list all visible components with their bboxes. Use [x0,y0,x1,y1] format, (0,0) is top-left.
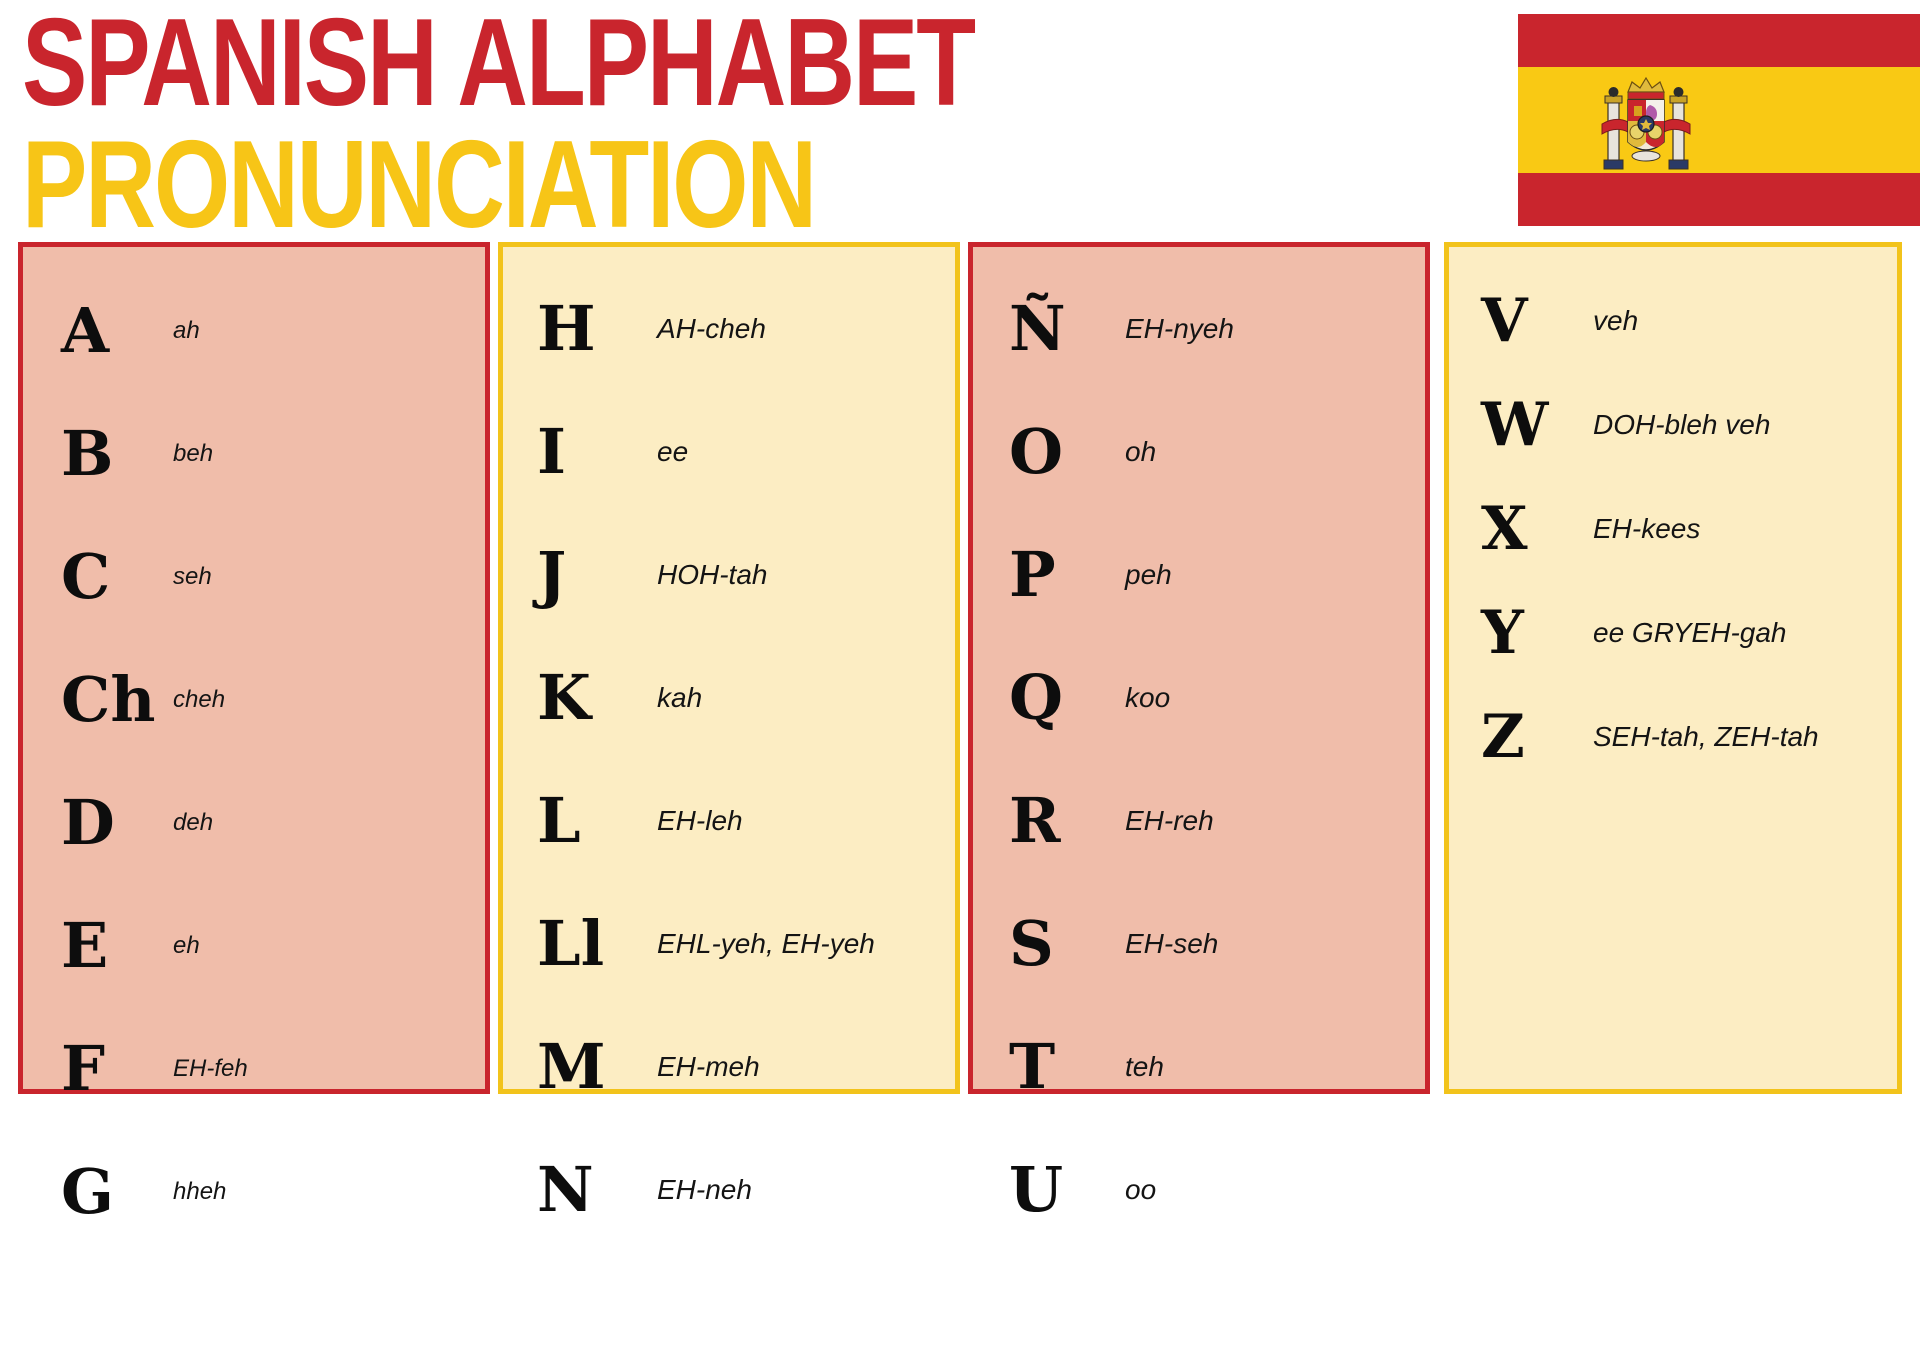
pronunciation-text: AH-cheh [657,315,766,343]
alphabet-row: MEH-meh [503,1005,955,1128]
pronunciation-text: teh [1125,1053,1164,1081]
pronunciation-text: EH-reh [1125,807,1214,835]
spain-flag-icon [1518,14,1920,226]
letter-glyph: T [1009,1036,1121,1098]
pronunciation-text: SEH-tah, ZEH-tah [1593,723,1819,751]
letter-glyph: M [537,1036,653,1098]
pronunciation-text: oo [1125,1176,1156,1204]
letter-glyph: A [61,300,169,362]
alphabet-row: Bbeh [23,392,485,515]
alphabet-row: LlEHL-yeh, EH-yeh [503,882,955,1005]
column-1-rows: AahBbehCsehChchehDdehEehFEH-fehGhheh [23,247,485,1111]
pronunciation-text: EH-meh [657,1053,760,1081]
alphabet-row: Eeh [23,884,485,1007]
letter-glyph: N [537,1159,653,1221]
flag-stripe-red-bottom [1518,173,1920,226]
pronunciation-text: hheh [173,1180,226,1204]
alphabet-row: SEH-seh [973,882,1425,1005]
alphabet-row: Ppeh [973,513,1425,636]
pronunciation-text: HOH-tah [657,561,767,589]
letter-glyph: V [1481,291,1589,351]
letter-glyph: L [537,790,653,852]
pronunciation-text: ee [657,438,688,466]
alphabet-row: Cseh [23,515,485,638]
alphabet-row: Iee [503,390,955,513]
alphabet-row: Ghheh [23,1130,485,1253]
alphabet-row: Qkoo [973,636,1425,759]
letter-glyph: R [1009,790,1121,852]
letter-glyph: S [1009,913,1121,975]
pronunciation-text: deh [173,811,213,835]
letter-glyph: J [537,544,653,606]
pronunciation-text: veh [1593,307,1638,335]
pronunciation-text: ah [173,319,200,343]
letter-glyph: X [1481,499,1589,559]
column-2-rows: HAH-chehIeeJHOH-tahKkahLEH-lehLlEHL-yeh,… [503,247,955,1109]
alphabet-row: WDOH-bleh veh [1449,373,1897,477]
letter-glyph: G [61,1161,169,1223]
letter-glyph: O [1009,421,1121,483]
letter-glyph: W [1481,395,1589,455]
alphabet-row: ZSEH-tah, ZEH-tah [1449,685,1897,789]
letter-glyph: Q [1009,667,1121,729]
pronunciation-text: EH-kees [1593,515,1700,543]
alphabet-row: JHOH-tah [503,513,955,636]
pronunciation-text: EH-leh [657,807,743,835]
alphabet-row: ÑEH-nyeh [973,267,1425,390]
letter-glyph: I [537,421,653,483]
letter-glyph: F [61,1038,169,1100]
page-title: SPANISH ALPHABET [22,6,974,121]
alphabet-row: HAH-cheh [503,267,955,390]
alphabet-row: Ddeh [23,761,485,884]
letter-glyph: K [537,667,653,729]
alphabet-row: FEH-feh [23,1007,485,1130]
pronunciation-text: EH-neh [657,1176,752,1204]
letter-glyph: D [61,792,169,854]
pronunciation-text: beh [173,442,213,466]
letter-glyph: C [61,546,169,608]
alphabet-row: Uoo [973,1128,1425,1251]
alphabet-row: Kkah [503,636,955,759]
pronunciation-text: seh [173,565,212,589]
pronunciation-text: EHL-yeh, EH-yeh [657,930,875,958]
pronunciation-text: peh [1125,561,1172,589]
page-subtitle: PRONUNCIATION [22,128,815,243]
alphabet-row: Aah [23,269,485,392]
alphabet-column-3: ÑEH-nyehOohPpehQkooREH-rehSEH-sehTtehUoo [968,242,1430,1094]
coat-of-arms-icon [1598,72,1694,182]
pronunciation-text: EH-nyeh [1125,315,1234,343]
alphabet-row: LEH-leh [503,759,955,882]
letter-glyph: Ch [61,669,169,731]
column-3-rows: ÑEH-nyehOohPpehQkooREH-rehSEH-sehTtehUoo [973,247,1425,1109]
alphabet-column-1: AahBbehCsehChchehDdehEehFEH-fehGhheh [18,242,490,1094]
letter-glyph: E [61,915,169,977]
alphabet-row: NEH-neh [503,1128,955,1251]
letter-glyph: B [61,423,169,485]
pronunciation-text: DOH-bleh veh [1593,411,1770,439]
letter-glyph: Ñ [1009,298,1121,360]
alphabet-row: Chcheh [23,638,485,761]
pronunciation-text: cheh [173,688,225,712]
flag-stripe-red-top [1518,14,1920,67]
pronunciation-text: koo [1125,684,1170,712]
alphabet-panels: AahBbehCsehChchehDdehEehFEH-fehGhheh HAH… [0,242,1920,1350]
pronunciation-text: oh [1125,438,1156,466]
pronunciation-text: EH-feh [173,1057,248,1081]
letter-glyph: Z [1481,707,1589,767]
letter-glyph: Y [1481,603,1589,663]
alphabet-row: REH-reh [973,759,1425,882]
pronunciation-text: eh [173,934,200,958]
alphabet-row: XEH-kees [1449,477,1897,581]
alphabet-row: Vveh [1449,269,1897,373]
pronunciation-text: ee GRYEH-gah [1593,619,1787,647]
alphabet-row: Ooh [973,390,1425,513]
alphabet-row: Tteh [973,1005,1425,1128]
letter-glyph: H [537,298,653,360]
letter-glyph: U [1009,1159,1121,1221]
alphabet-column-2: HAH-chehIeeJHOH-tahKkahLEH-lehLlEHL-yeh,… [498,242,960,1094]
pronunciation-text: EH-seh [1125,930,1218,958]
letter-glyph: Ll [537,913,653,975]
letter-glyph: P [1009,544,1121,606]
flag-stripe-yellow [1518,67,1920,173]
alphabet-column-4: VvehWDOH-bleh vehXEH-keesYee GRYEH-gahZS… [1444,242,1902,1094]
alphabet-row: Yee GRYEH-gah [1449,581,1897,685]
pronunciation-text: kah [657,684,702,712]
column-4-rows: VvehWDOH-bleh vehXEH-keesYee GRYEH-gahZS… [1449,247,1897,1111]
